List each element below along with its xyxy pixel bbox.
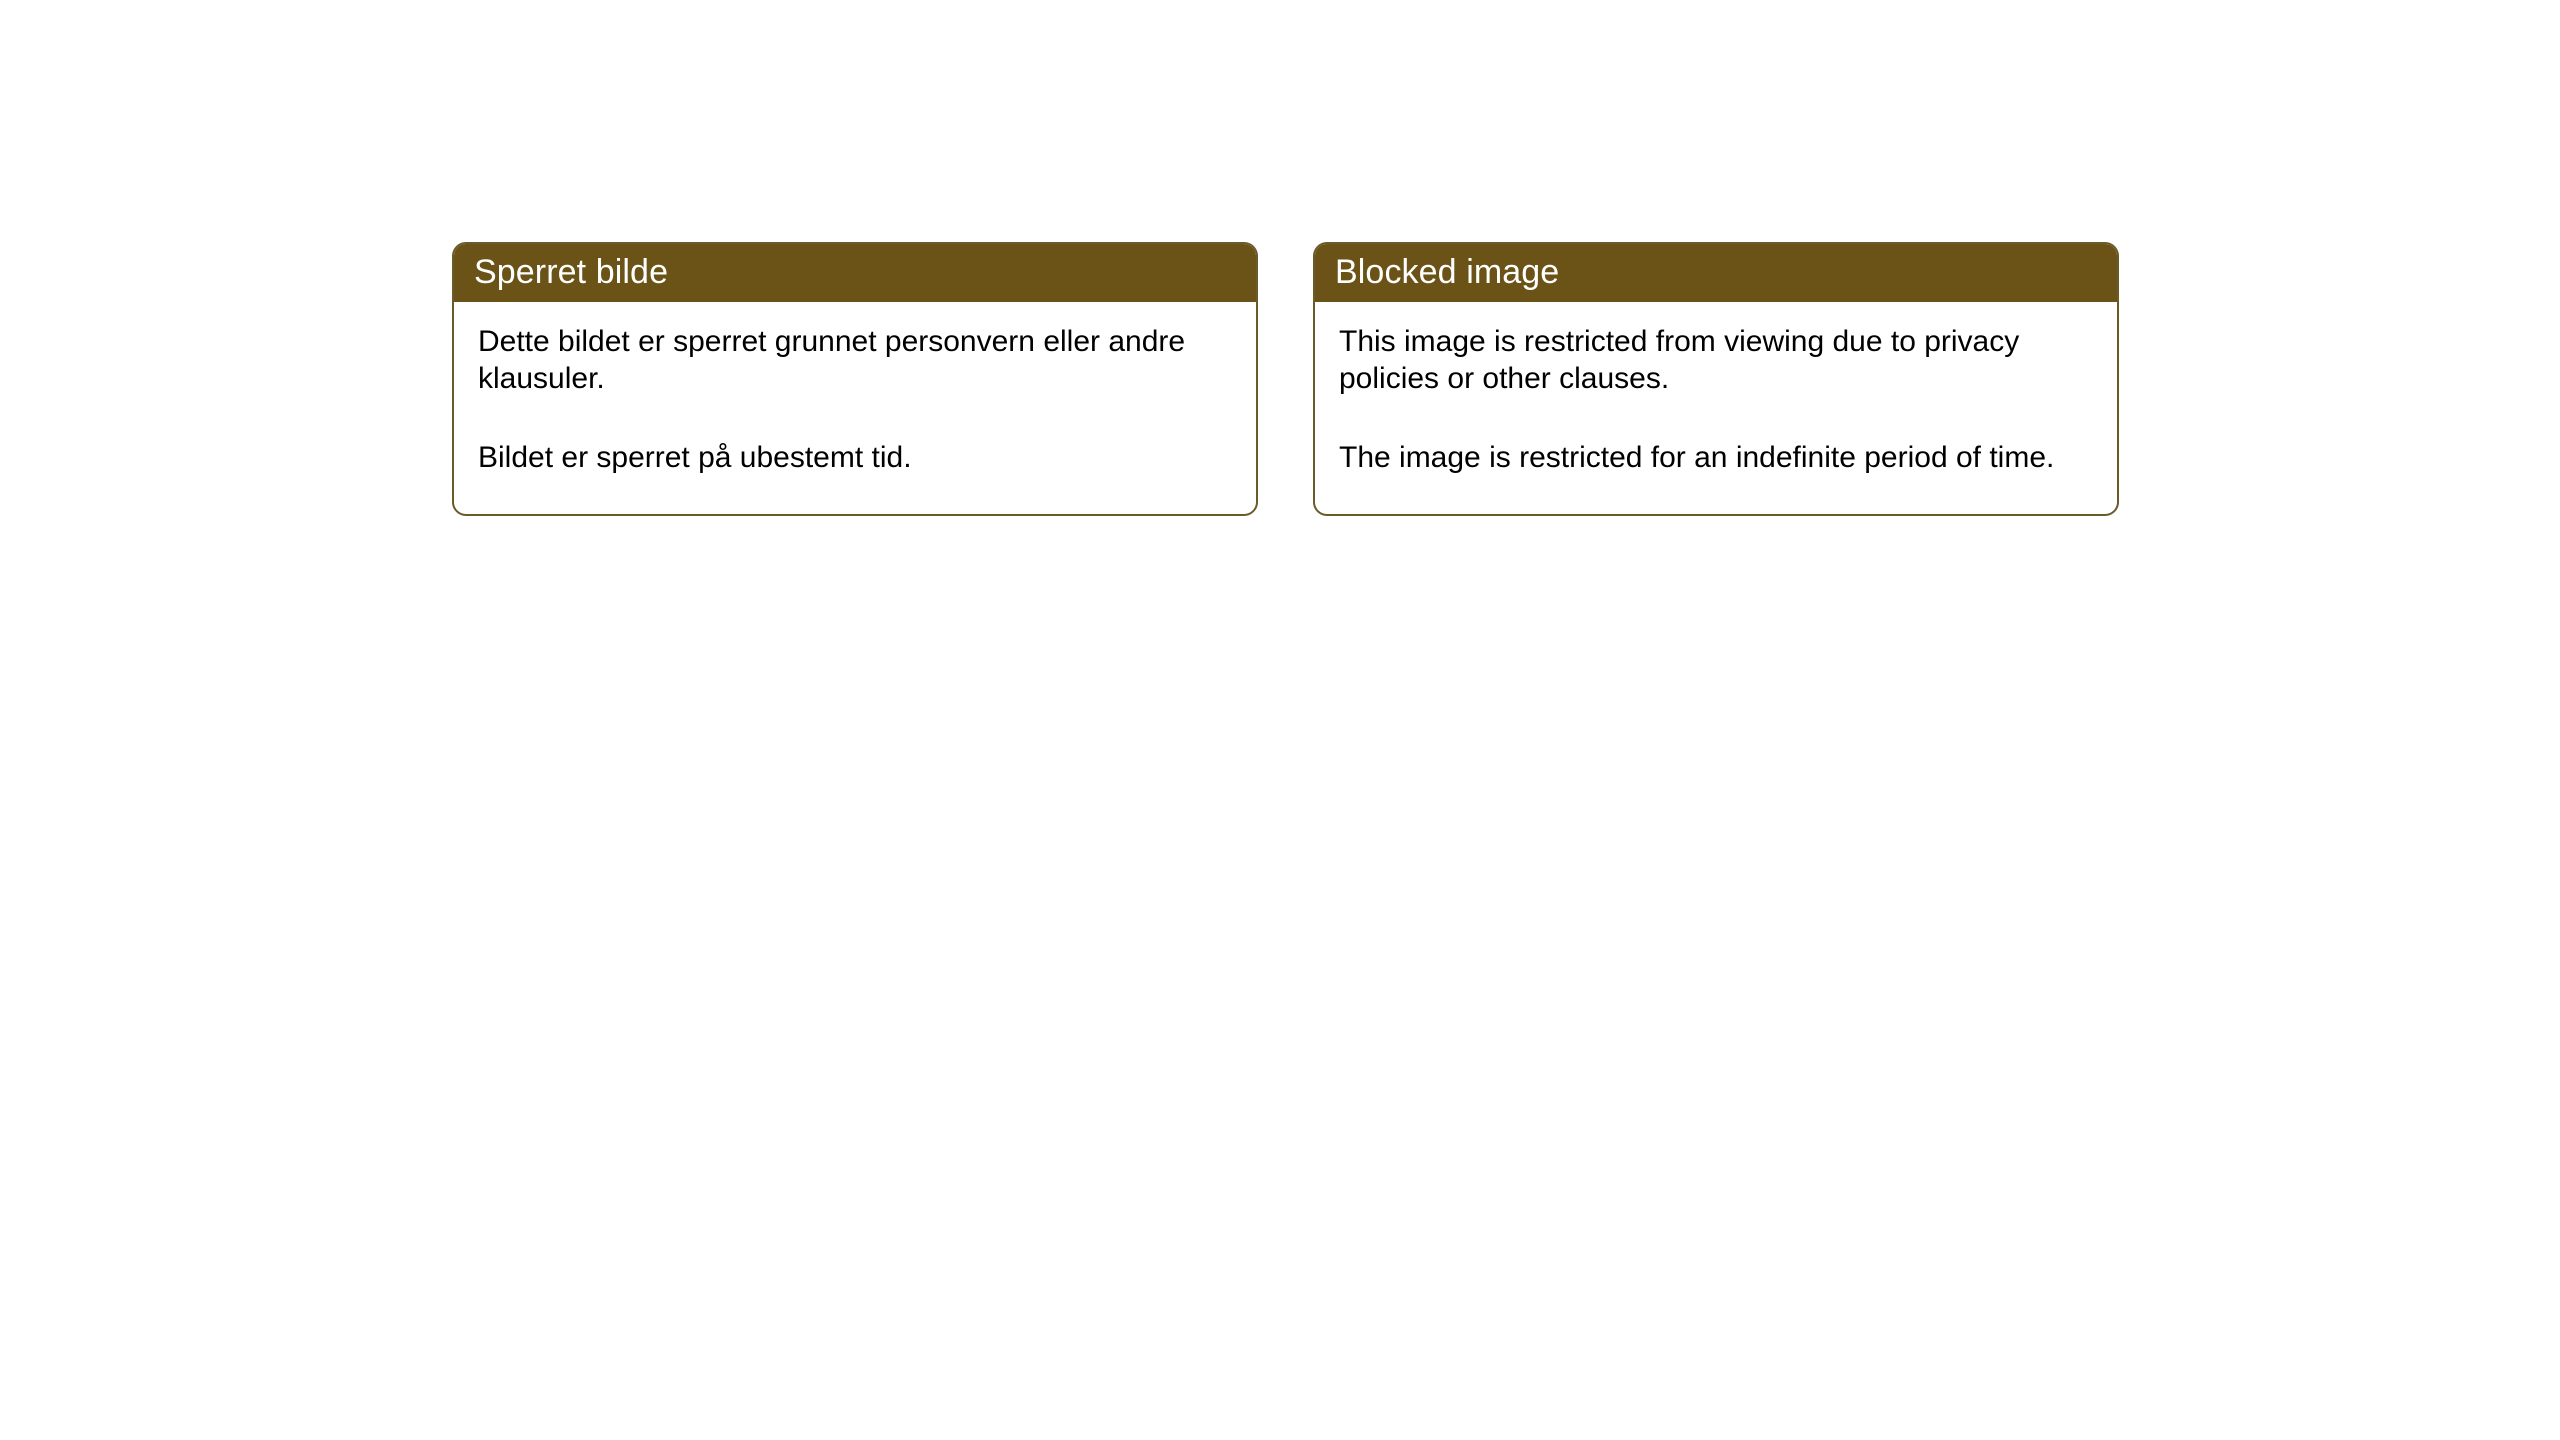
card-paragraph-secondary-no: Bildet er sperret på ubestemt tid. [478,440,1232,477]
notice-card-row: Sperret bilde Dette bildet er sperret gr… [452,242,2119,516]
blocked-image-card-no: Sperret bilde Dette bildet er sperret gr… [452,242,1258,516]
card-body-no: Dette bildet er sperret grunnet personve… [454,302,1256,514]
page-root: Sperret bilde Dette bildet er sperret gr… [0,0,2560,1440]
card-body-en: This image is restricted from viewing du… [1315,302,2117,514]
card-title-en: Blocked image [1335,255,1559,289]
card-header-no: Sperret bilde [452,242,1258,302]
card-paragraph-primary-en: This image is restricted from viewing du… [1339,324,2093,397]
card-paragraph-secondary-en: The image is restricted for an indefinit… [1339,440,2093,477]
card-title-no: Sperret bilde [474,255,668,289]
card-header-en: Blocked image [1313,242,2119,302]
card-paragraph-primary-no: Dette bildet er sperret grunnet personve… [478,324,1232,397]
blocked-image-card-en: Blocked image This image is restricted f… [1313,242,2119,516]
